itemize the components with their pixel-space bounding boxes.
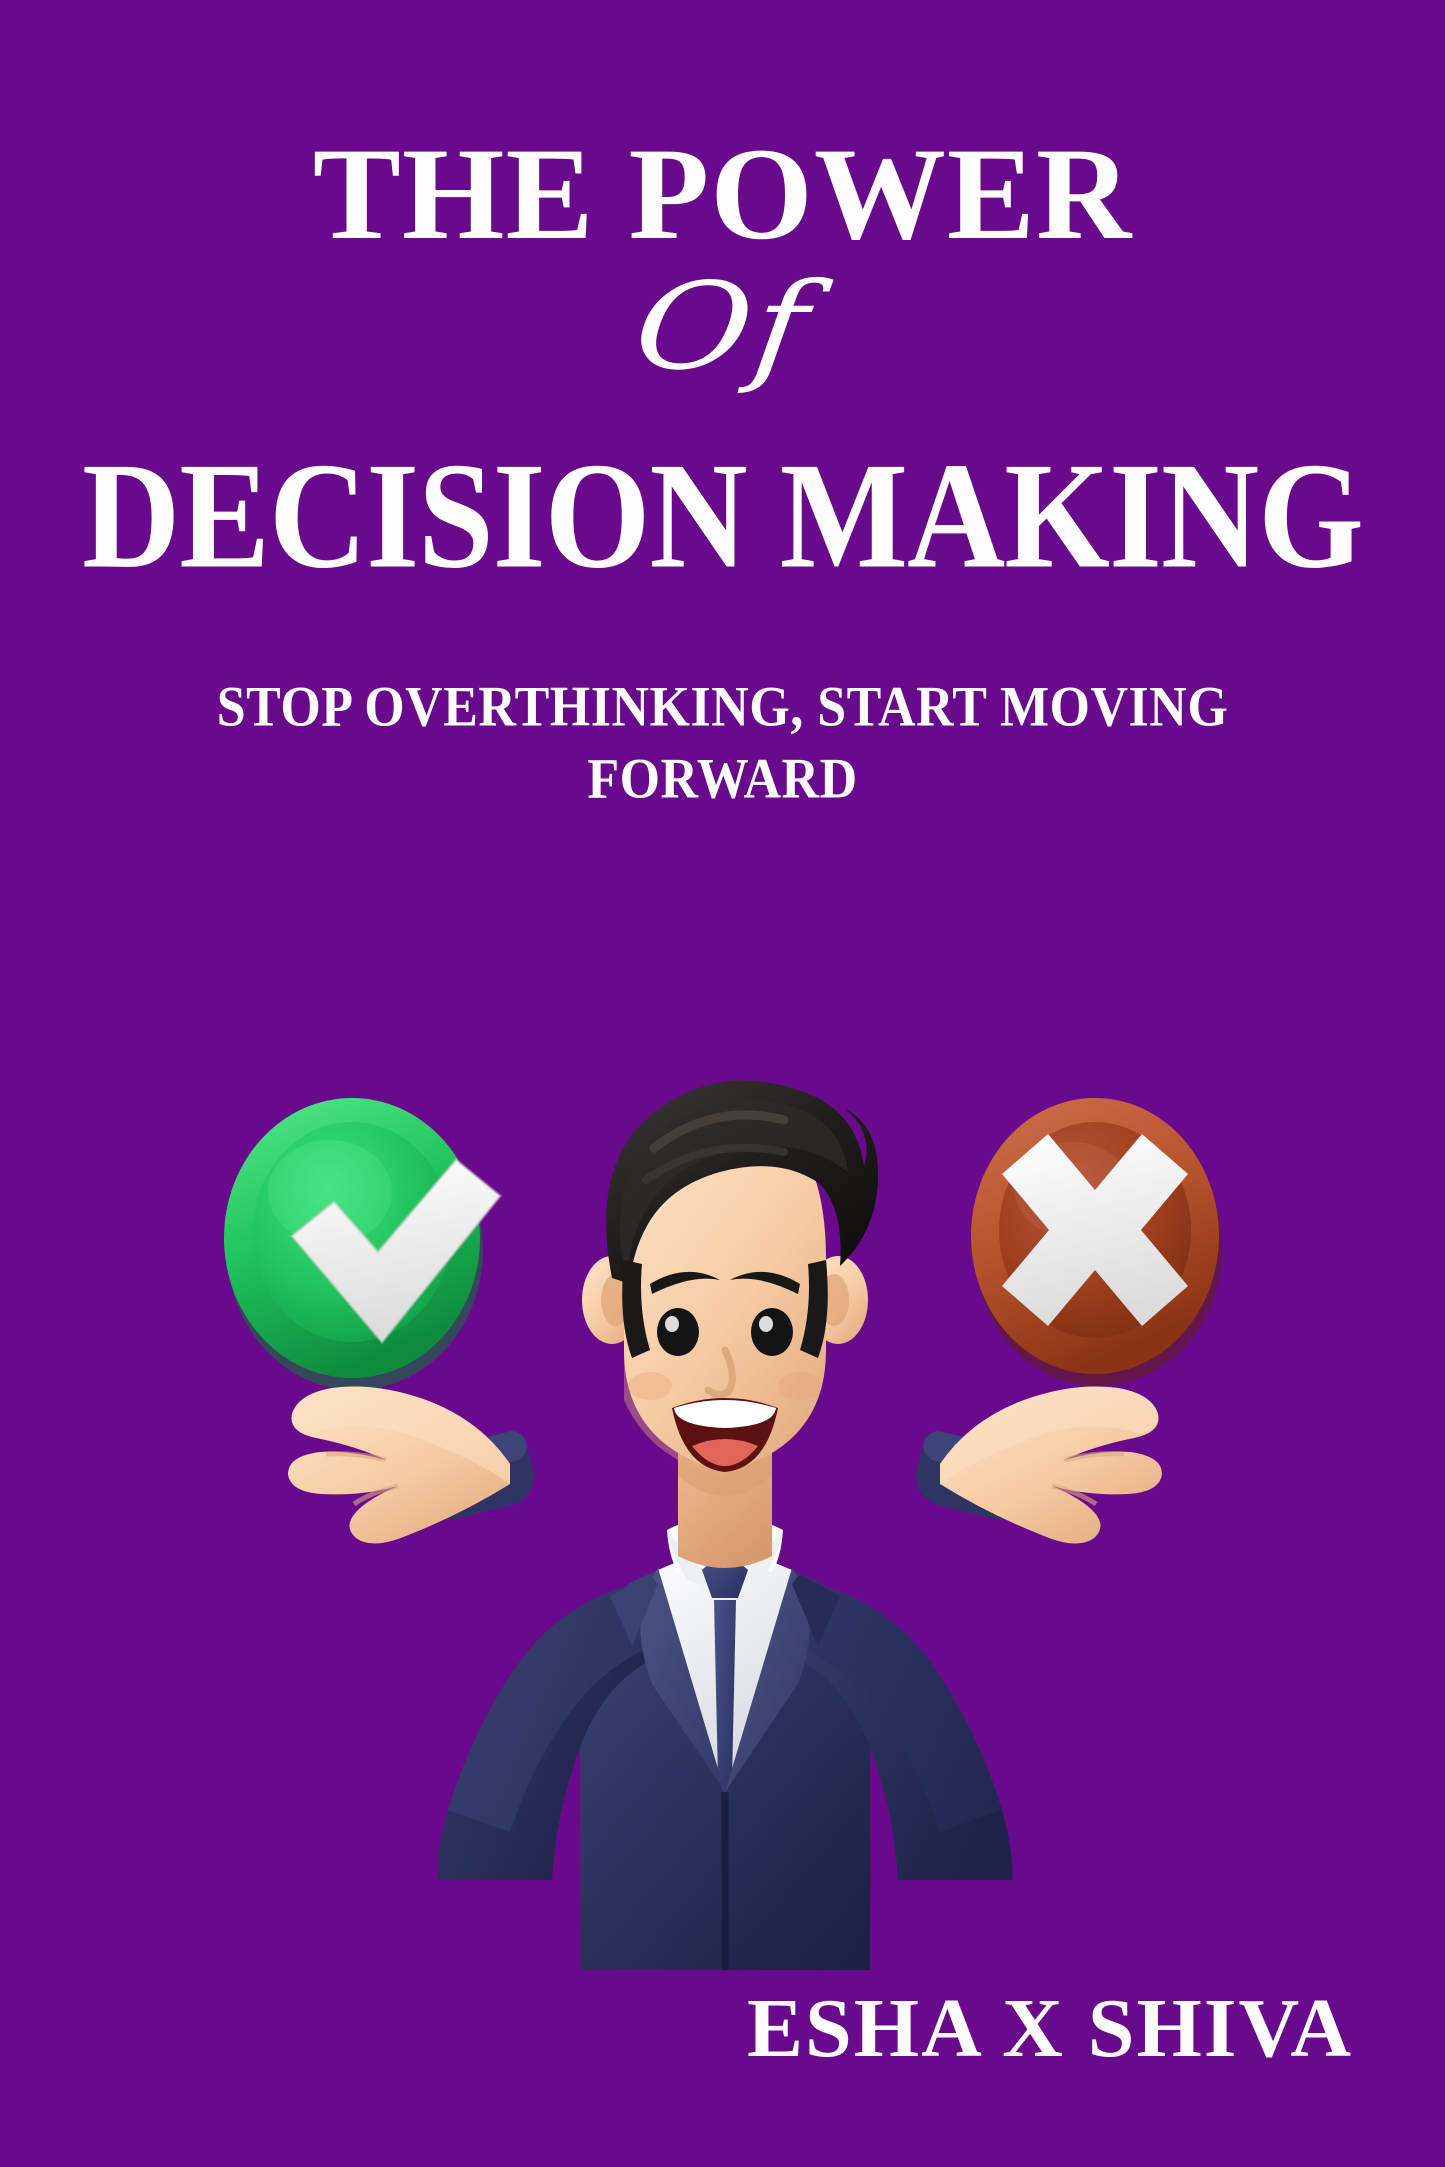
cover-illustration <box>180 880 1270 1970</box>
title-line-one: THE POWER <box>0 128 1445 260</box>
title-connector: Of <box>0 268 1445 388</box>
check-badge-icon <box>224 1098 500 1390</box>
title-line-two-text: DECISION MAKING <box>82 440 1363 592</box>
illustration-svg <box>180 880 1270 1970</box>
title-line-two: DECISION MAKING <box>0 440 1445 576</box>
left-hand <box>288 1387 540 1544</box>
cross-badge-icon <box>971 1098 1222 1386</box>
book-cover: THE POWER Of DECISION MAKING STOP OVERTH… <box>0 0 1445 2167</box>
right-eye <box>751 1308 793 1356</box>
author-name: ESHA X SHIVA <box>0 1987 1353 2071</box>
tagline-line-one: STOP OVERTHINKING, START MOVING <box>217 668 1229 747</box>
right-hand <box>910 1387 1162 1544</box>
tagline: STOP OVERTHINKING, START MOVING FORWARD <box>90 672 1355 816</box>
left-eye <box>657 1308 699 1356</box>
character-body <box>438 1515 1013 1970</box>
title-connector-text: Of <box>628 268 816 388</box>
tagline-line-two: FORWARD <box>587 740 857 819</box>
